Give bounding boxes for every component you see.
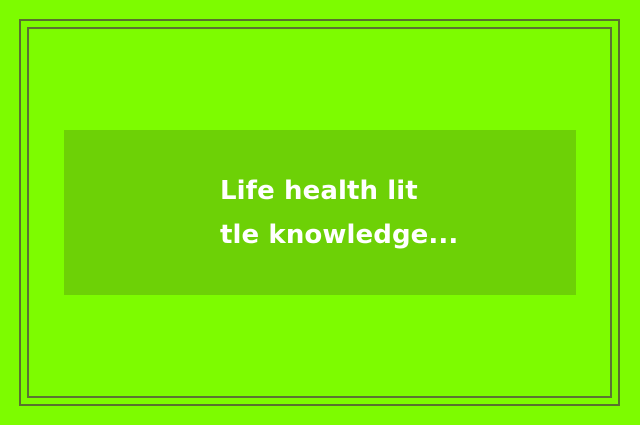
poster-canvas: Life health lit tle knowledge... xyxy=(0,0,640,425)
headline-line-2: tle knowledge... xyxy=(220,213,576,257)
headline-line-1: Life health lit xyxy=(220,169,576,213)
headline-panel: Life health lit tle knowledge... xyxy=(64,130,576,295)
